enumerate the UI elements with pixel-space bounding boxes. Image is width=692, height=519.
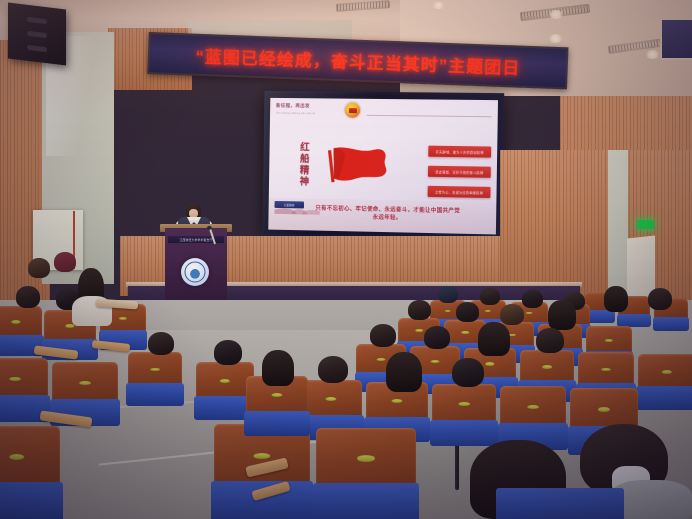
seat[interactable]: [128, 352, 182, 404]
audience-head: [424, 326, 450, 349]
audience-head: [370, 324, 396, 347]
seat[interactable]: [500, 486, 620, 519]
audience-head: [214, 340, 242, 365]
audience-head: [548, 300, 576, 330]
seat[interactable]: [0, 426, 60, 519]
audience-head: [522, 290, 543, 308]
auditorium-photo: “蓝图已经绘成，奋斗正当其时”主题团日 新征程，再出发 Xin zheng ch…: [0, 0, 692, 519]
slide-point-text: 立党为公、忠诚为民的奉献精神: [435, 189, 483, 195]
slide-vertical-title: 红船精神: [294, 142, 308, 188]
audience-head: [262, 350, 294, 386]
audience-head: [456, 302, 479, 322]
stage-back-wall-right: [500, 150, 608, 300]
slide-header-cn: 新征程，再出发: [276, 103, 310, 109]
wall-display-icon: [660, 18, 692, 60]
slide-header-rule: [367, 115, 492, 117]
recessed-downlight: [548, 10, 564, 19]
recessed-downlight: [432, 2, 445, 9]
audience-head: [28, 258, 50, 278]
projection-screen: 新征程，再出发 Xin zheng cheng zai chu fa 红船精神 …: [262, 91, 504, 241]
exit-sign-icon: [637, 220, 654, 229]
slide-header: 新征程，再出发 Xin zheng cheng zai chu fa: [276, 102, 492, 126]
audience-head: [148, 332, 174, 355]
slide-header-en: Xin zheng cheng zai chu fa: [276, 111, 315, 115]
seat[interactable]: [316, 428, 416, 519]
audience-head: [386, 352, 422, 392]
recessed-downlight: [548, 34, 563, 43]
recessed-downlight: [645, 50, 660, 59]
audience-head: [452, 358, 484, 387]
slide-point-box: 坚定理想、百折不挠的奋斗精神: [428, 166, 491, 178]
podium-nameplate-text: 江西财经大学学术报告厅: [180, 238, 213, 242]
loudspeaker-icon: [8, 2, 66, 65]
audience-head: [604, 286, 628, 312]
university-crest-icon: [181, 258, 209, 286]
slide-point-box: 立党为公、忠诚为民的奉献精神: [428, 186, 491, 198]
communist-youth-league-emblem-icon: [345, 103, 360, 118]
audience-head: [408, 300, 431, 320]
red-flag-icon: [323, 144, 391, 189]
seat[interactable]: [500, 386, 566, 448]
seat[interactable]: [638, 354, 692, 408]
audience-head-hat: [54, 252, 76, 272]
podium-nameplate: 江西财经大学学术报告厅: [168, 236, 224, 243]
audience-head: [536, 328, 564, 353]
slide-point-box: 开天辟地、敢为人先的首创精神: [428, 146, 491, 158]
presentation-slide: 新征程，再出发 Xin zheng cheng zai chu fa 红船精神 …: [268, 98, 498, 235]
slide-point-text: 坚定理想、百折不挠的奋斗精神: [435, 169, 483, 175]
audience-head: [16, 286, 40, 308]
audience-head: [480, 288, 500, 305]
audience-head: [500, 304, 524, 325]
audience-head: [648, 288, 672, 310]
slide-point-text: 开天辟地、敢为人先的首创精神: [436, 149, 484, 155]
seat[interactable]: [432, 384, 496, 444]
audience-head: [318, 356, 348, 383]
audience-head: [438, 286, 458, 303]
audience-head: [478, 322, 510, 356]
